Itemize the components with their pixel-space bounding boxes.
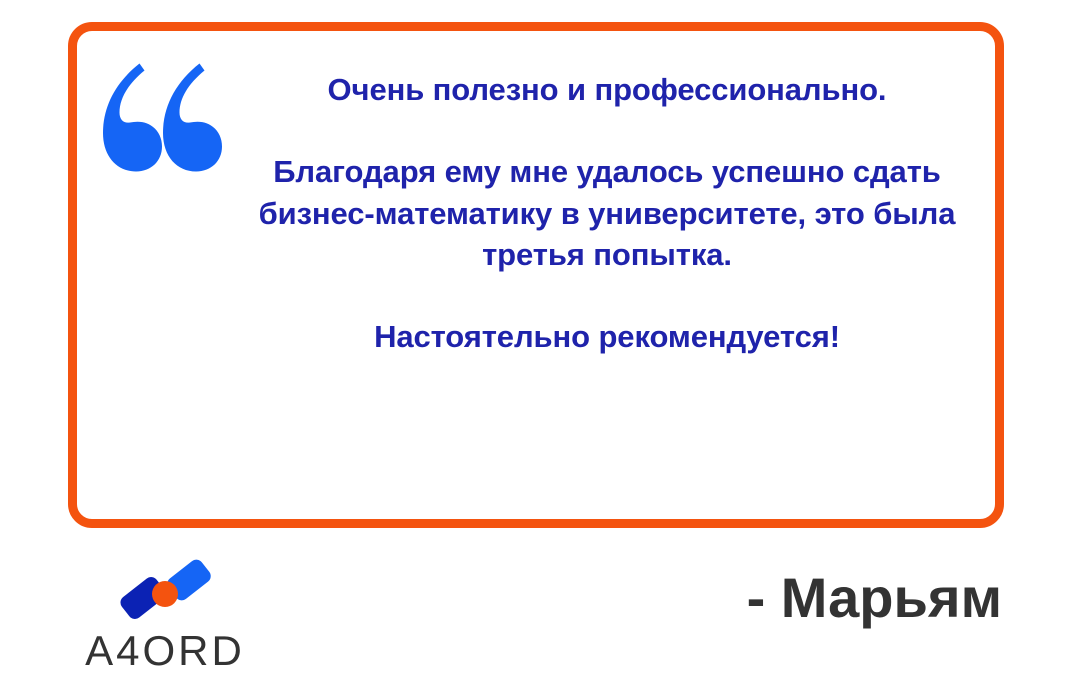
testimonial-card: Очень полезно и профессионально. Благода…	[68, 22, 1004, 528]
a4ord-checkmark-logo-icon	[105, 556, 225, 626]
testimonial-paragraph-1: Очень полезно и профессионально.	[217, 69, 997, 110]
brand-wordmark: A4ORD	[60, 630, 270, 672]
double-quotation-mark-icon	[95, 57, 225, 177]
testimonial-graphic: Очень полезно и профессионально. Благода…	[0, 0, 1080, 690]
testimonial-author: - Марьям	[747, 570, 1002, 626]
brand-logo: A4ORD	[60, 556, 270, 672]
footer-row: A4ORD - Марьям	[0, 528, 1080, 690]
testimonial-card-inner: Очень полезно и профессионально. Благода…	[77, 31, 995, 519]
testimonial-text: Очень полезно и профессионально. Благода…	[217, 69, 997, 358]
testimonial-paragraph-3: Настоятельно рекомендуется!	[217, 316, 997, 357]
testimonial-paragraph-2: Благодаря ему мне удалось успешно сдать …	[217, 151, 997, 275]
